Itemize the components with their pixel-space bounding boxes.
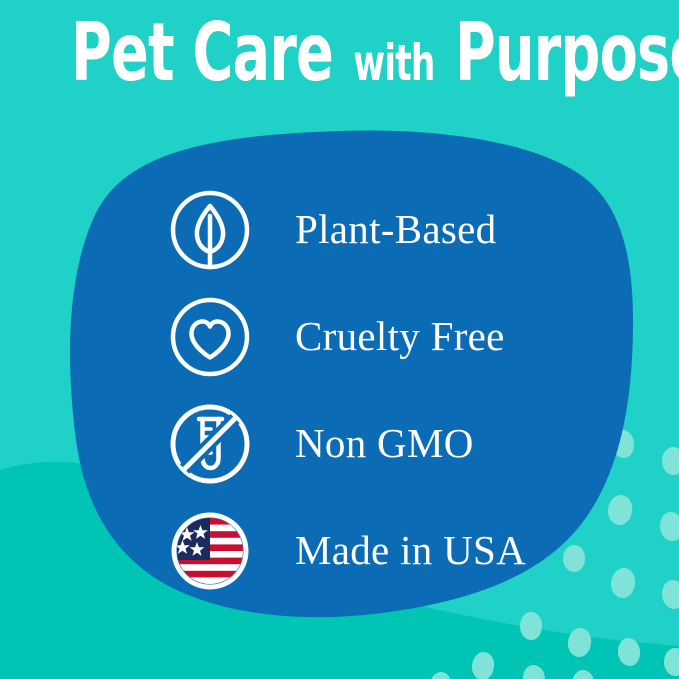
headline-part-two: with bbox=[352, 34, 437, 92]
feature-label-made-in-usa: Made in USA bbox=[295, 530, 526, 571]
feature-row-non-gmo: Non GMO bbox=[168, 390, 588, 497]
no-gmo-test-tube-icon bbox=[168, 402, 252, 486]
headline-part-one: Pet Care bbox=[71, 7, 333, 100]
feature-row-made-in-usa: Made in USA bbox=[168, 497, 588, 604]
poster-canvas: Pet Care with Purpose® Plant-Based bbox=[0, 0, 679, 679]
feature-label-plant-based: Plant-Based bbox=[295, 209, 496, 250]
usa-flag-circle-icon bbox=[168, 509, 252, 593]
page-title: Pet Care with Purpose® bbox=[0, 14, 679, 82]
feature-label-non-gmo: Non GMO bbox=[295, 423, 474, 464]
feature-row-plant-based: Plant-Based bbox=[168, 176, 588, 283]
feature-list: Plant-Based Cruelty Free bbox=[168, 176, 588, 604]
leaf-in-circle-icon bbox=[168, 188, 252, 272]
headline-part-three: Purpose bbox=[455, 7, 679, 100]
feature-row-cruelty-free: Cruelty Free bbox=[168, 283, 588, 390]
feature-label-cruelty-free: Cruelty Free bbox=[295, 316, 505, 357]
heart-in-circle-icon bbox=[168, 295, 252, 379]
